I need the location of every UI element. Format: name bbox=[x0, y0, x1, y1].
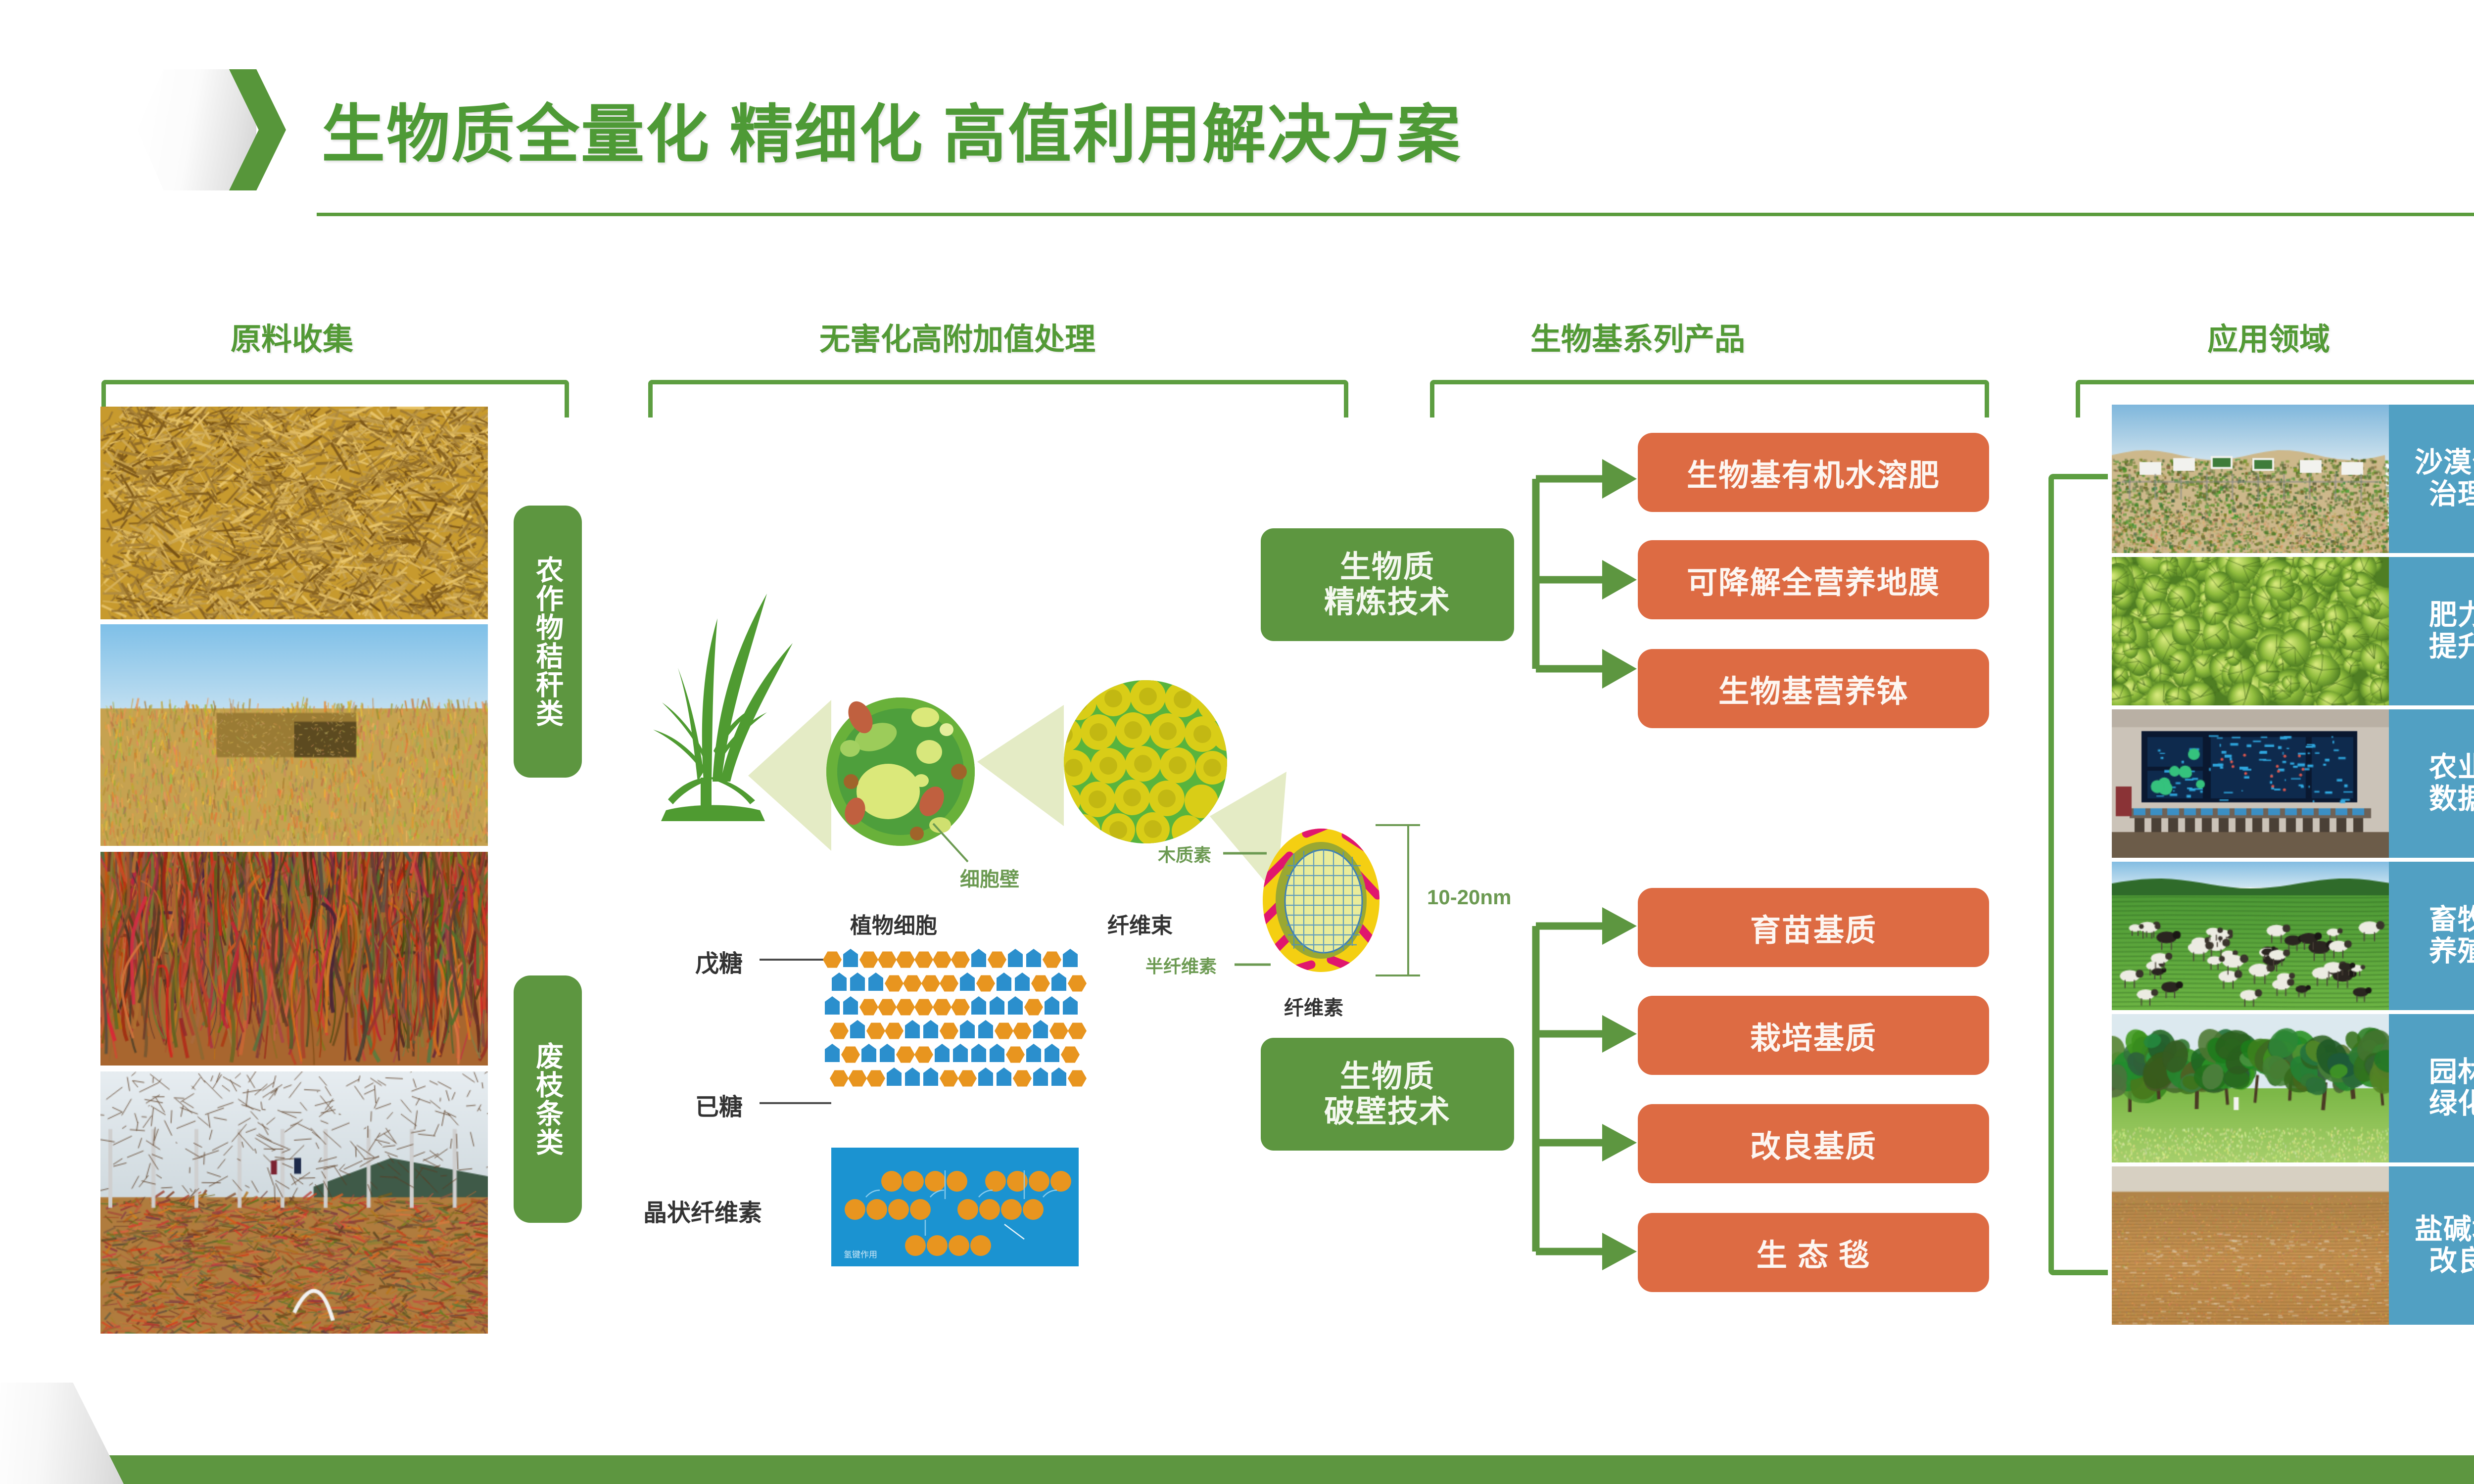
tech-wallbreaking-line2: 破壁技术 bbox=[1324, 1094, 1451, 1129]
application-row-saline-alkali: 盐碱地 改良 bbox=[2112, 1166, 2474, 1325]
application-label-desertification: 沙漠化 治理 bbox=[2389, 405, 2474, 553]
app-landscape-line2: 绿化 bbox=[2429, 1088, 2474, 1120]
label-scale-dimension: 10-20nm bbox=[1427, 885, 1511, 909]
label-hemicellulose: 半纤维素 bbox=[1145, 952, 1217, 978]
infographic-canvas: 生物质全量化 精细化 高值利用解决方案 原料收集 无害化高附加值处理 生物基系列… bbox=[0, 0, 2474, 1484]
app-saline-line2: 改良 bbox=[2429, 1246, 2474, 1277]
application-row-fertility: 肥力 提升 bbox=[2112, 557, 2474, 705]
application-photo-desert-control bbox=[2112, 405, 2389, 553]
applications-bracket bbox=[2048, 474, 2108, 1275]
application-row-agri-data: 农业 数据 bbox=[2112, 709, 2474, 858]
sugar-chain-illustration bbox=[760, 949, 1087, 1103]
application-photo-park-trees bbox=[2112, 1014, 2389, 1162]
crystalline-cellulose-panel: 氢键作用 bbox=[831, 1148, 1079, 1266]
app-desert-line2: 治理 bbox=[2429, 479, 2474, 510]
header-logo-mark bbox=[138, 69, 281, 190]
app-data-line2: 数据 bbox=[2429, 784, 2474, 815]
feedstock-photo-branches bbox=[100, 852, 488, 1066]
section-bracket-processing bbox=[648, 380, 1348, 417]
application-label-livestock: 畜牧 养殖 bbox=[2389, 862, 2474, 1010]
application-photo-control-room bbox=[2112, 709, 2389, 858]
application-label-landscaping: 园林 绿化 bbox=[2389, 1014, 2474, 1162]
feedstock-photo-straw-bale bbox=[100, 624, 488, 846]
application-photo-sheep-grazing bbox=[2112, 862, 2389, 1010]
section-title-products: 生物基系列产品 bbox=[1475, 314, 1801, 359]
feedstock-photo-orchard bbox=[100, 1071, 488, 1334]
feedstock-tag-crop-straw: 农作物秸秆类 bbox=[514, 506, 582, 778]
product-pill-nutrient-pot: 生物基营养钵 bbox=[1638, 649, 1989, 728]
app-data-line1: 农业 bbox=[2429, 752, 2474, 784]
application-photo-cabbage-field bbox=[2112, 557, 2389, 705]
section-title-processing: 无害化高附加值处理 bbox=[720, 314, 1195, 359]
app-livestock-line1: 畜牧 bbox=[2429, 904, 2474, 936]
application-label-saline-alkali: 盐碱地 改良 bbox=[2389, 1166, 2474, 1325]
page-title: 生物质全量化 精细化 高值利用解决方案 bbox=[322, 83, 1462, 175]
tech-pill-wallbreaking: 生物质 破壁技术 bbox=[1261, 1038, 1514, 1151]
title-divider bbox=[317, 213, 2474, 216]
app-livestock-line2: 养殖 bbox=[2429, 936, 2474, 968]
section-title-feedstock: 原料收集 bbox=[186, 314, 398, 359]
product-pill-improvement-substrate: 改良基质 bbox=[1638, 1104, 1989, 1183]
plant-cell-illustration bbox=[826, 697, 975, 846]
application-row-landscaping: 园林 绿化 bbox=[2112, 1014, 2474, 1162]
label-crystalline-cellulose: 晶状纤维素 bbox=[643, 1193, 762, 1228]
label-fiber-bundle: 纤维束 bbox=[1107, 908, 1173, 939]
fiber-bundle-illustration bbox=[1046, 679, 1241, 848]
application-label-fertility: 肥力 提升 bbox=[2389, 557, 2474, 705]
tech-refining-line2: 精炼技术 bbox=[1324, 585, 1451, 620]
app-fertility-line2: 提升 bbox=[2429, 631, 2474, 663]
app-fertility-line1: 肥力 bbox=[2429, 600, 2474, 631]
tech-wallbreaking-line1: 生物质 bbox=[1340, 1059, 1435, 1094]
section-title-applications: 应用领域 bbox=[2162, 314, 2375, 359]
product-pill-water-soluble-fertilizer: 生物基有机水溶肥 bbox=[1638, 433, 1989, 512]
label-plant-cell: 植物细胞 bbox=[850, 908, 937, 939]
zoom-beam-1 bbox=[748, 700, 831, 851]
label-lignin: 木质素 bbox=[1158, 841, 1211, 867]
application-row-livestock: 畜牧 养殖 bbox=[2112, 862, 2474, 1010]
feedstock-tag-waste-branches: 废枝条类 bbox=[514, 975, 582, 1223]
label-cell-wall: 细胞壁 bbox=[960, 863, 1019, 892]
tech-refining-line1: 生物质 bbox=[1340, 550, 1435, 585]
footer-band bbox=[0, 1455, 2474, 1484]
app-landscape-line1: 园林 bbox=[2429, 1057, 2474, 1088]
application-label-agri-data: 农业 数据 bbox=[2389, 709, 2474, 858]
application-photo-saline-soil bbox=[2112, 1166, 2389, 1325]
application-row-desertification: 沙漠化 治理 bbox=[2112, 405, 2474, 553]
section-bracket-products bbox=[1430, 380, 1989, 417]
zoom-beam-2 bbox=[977, 705, 1064, 826]
product-pill-ecological-blanket: 生 态 毯 bbox=[1638, 1213, 1989, 1292]
label-cellulose: 纤维素 bbox=[1284, 992, 1343, 1020]
product-pill-seedling-substrate: 育苗基质 bbox=[1638, 888, 1989, 967]
tech-pill-refining: 生物质 精炼技术 bbox=[1261, 528, 1514, 641]
product-pill-biodegradable-mulch-film: 可降解全营养地膜 bbox=[1638, 540, 1989, 619]
product-pill-cultivation-substrate: 栽培基质 bbox=[1638, 996, 1989, 1075]
label-pentose: 戊糖 bbox=[695, 944, 743, 978]
app-saline-line1: 盐碱地 bbox=[2415, 1214, 2474, 1246]
footer-wedge-shape bbox=[0, 1383, 124, 1484]
feedstock-photo-corn-straw bbox=[100, 407, 488, 619]
cell-wall-leader-line bbox=[933, 824, 968, 862]
scale-dimension-bracket bbox=[1376, 825, 1420, 975]
app-desert-line1: 沙漠化 bbox=[2415, 447, 2474, 479]
label-hexose: 已糖 bbox=[695, 1087, 743, 1122]
svg-text:氢键作用: 氢键作用 bbox=[844, 1250, 877, 1259]
